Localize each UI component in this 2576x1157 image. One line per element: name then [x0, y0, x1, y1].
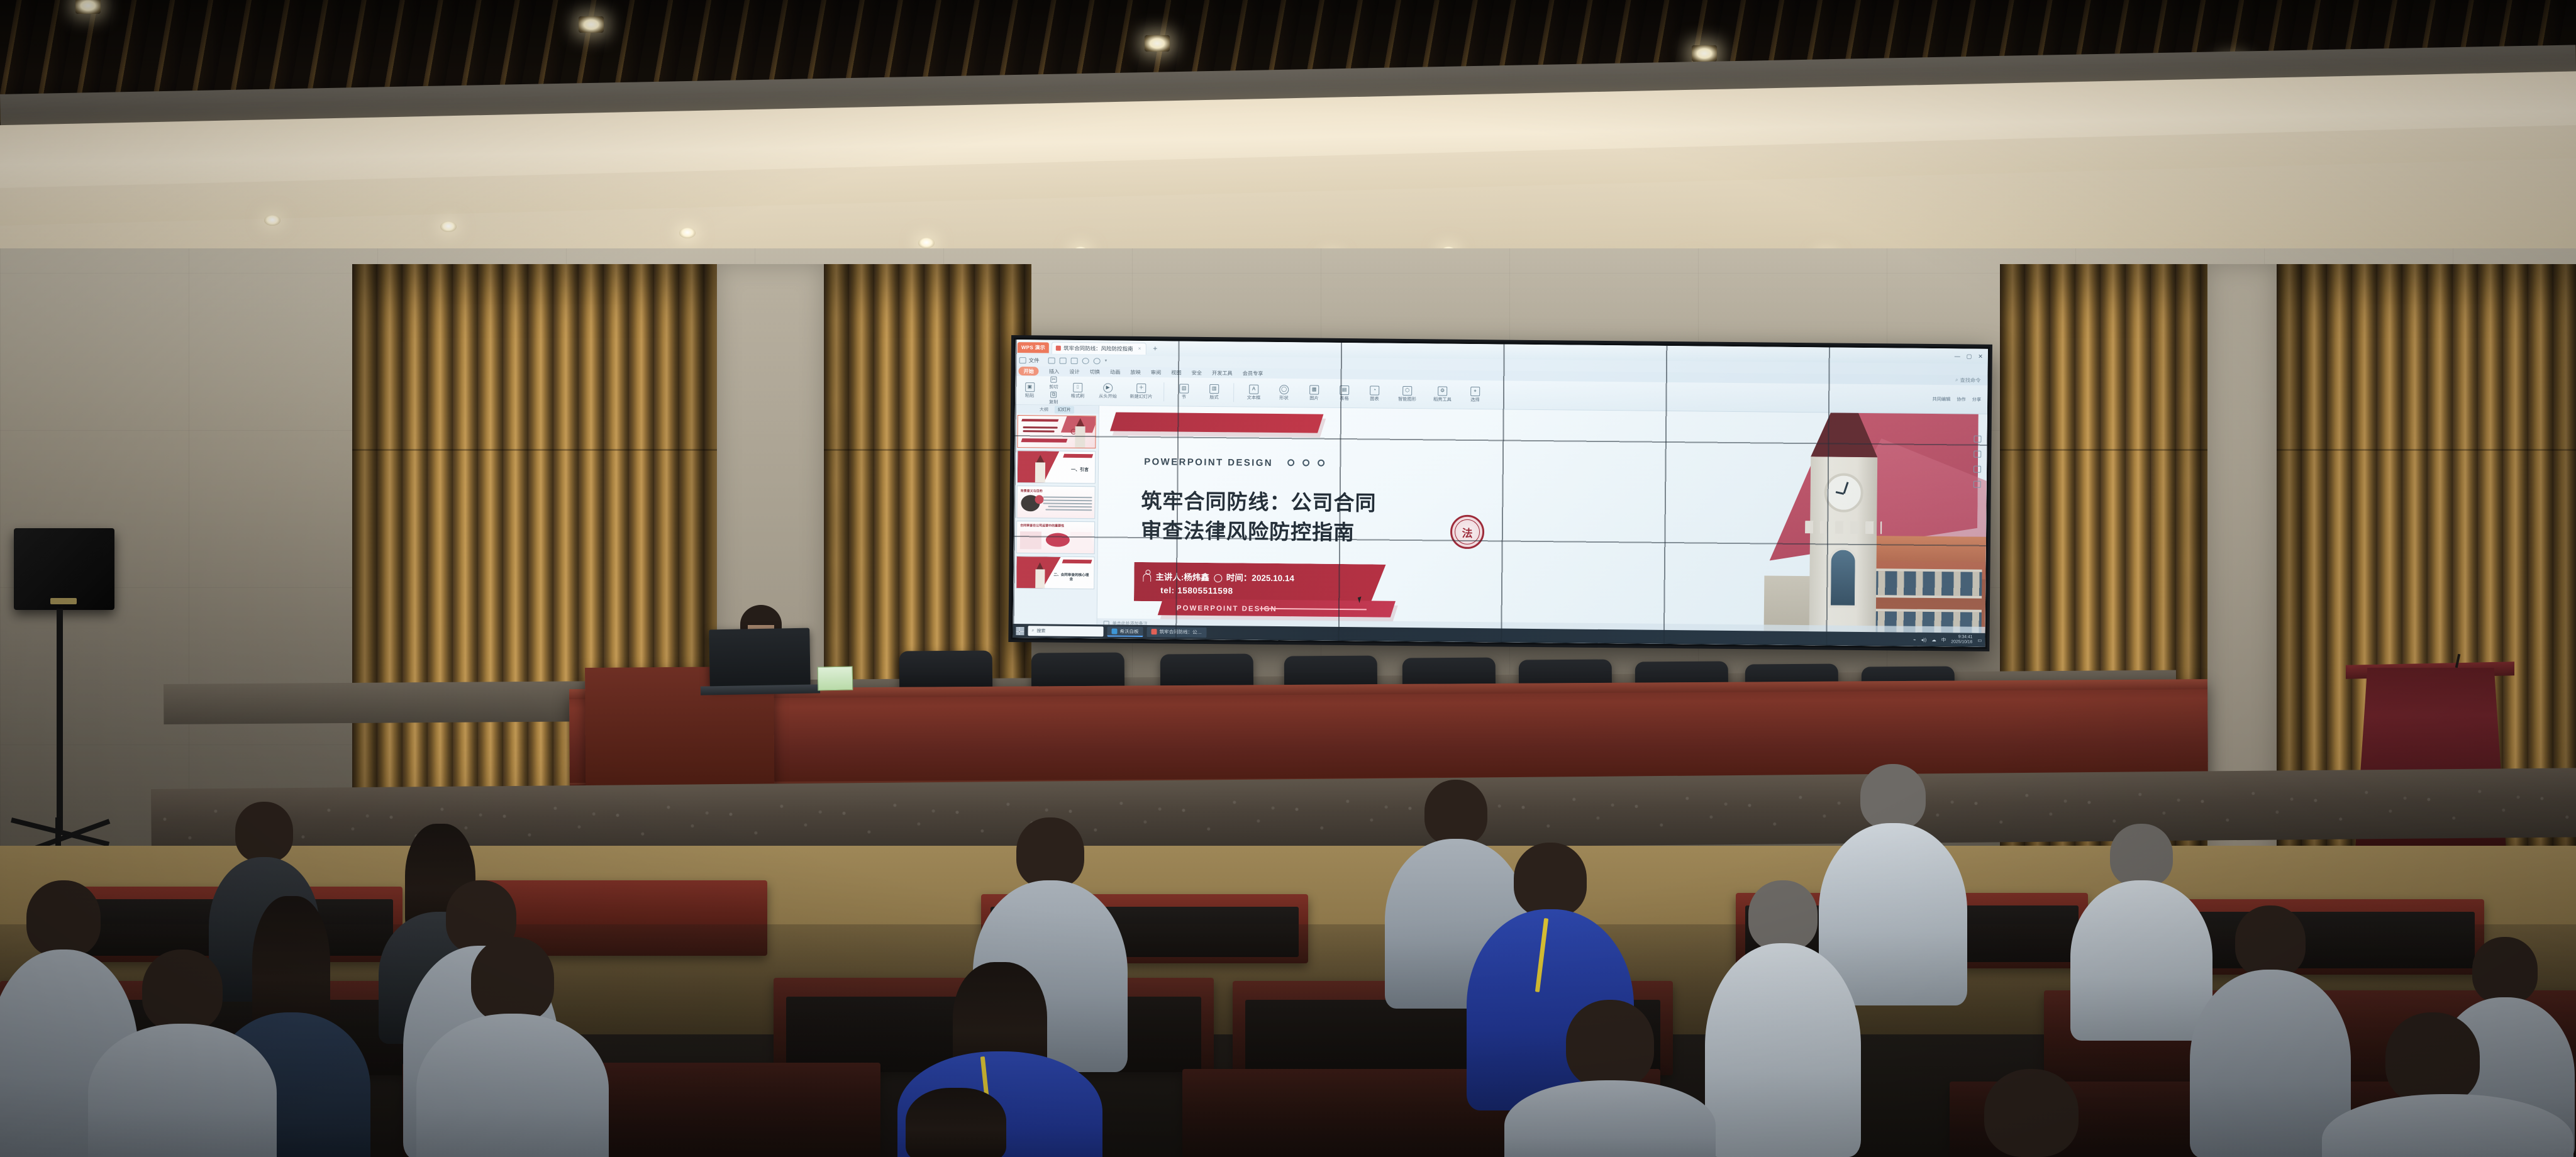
collaborate-button[interactable]: 协作	[1957, 396, 1965, 402]
tab-insert[interactable]: 插入	[1049, 368, 1060, 375]
slide-thumbnail-pane[interactable]: 大纲 幻灯片 1	[1013, 405, 1099, 638]
tab-start[interactable]: 开始	[1018, 367, 1039, 375]
pa-speaker	[14, 528, 114, 610]
ceiling-light	[75, 0, 101, 14]
search-icon: ⌕	[1955, 377, 1958, 383]
slide-thumbnail-5[interactable]: 5 二、合同审查的核心理念	[1016, 556, 1094, 589]
slide-thumbnail-1[interactable]: 1	[1017, 415, 1096, 448]
circle-icon	[1302, 459, 1309, 466]
tab-member[interactable]: 会员专享	[1243, 369, 1263, 377]
person-head	[471, 937, 554, 1022]
file-menu-button[interactable]: 文件	[1019, 357, 1040, 364]
person-torso	[416, 1014, 609, 1157]
maximize-icon[interactable]: ▢	[1967, 353, 1972, 360]
section-button[interactable]: ▤ 节	[1173, 384, 1194, 399]
new-slide-button[interactable]: ＋ 新建幻灯片	[1127, 384, 1155, 399]
person-head	[1860, 764, 1926, 829]
audience-person	[88, 949, 277, 1157]
tab-security[interactable]: 安全	[1192, 369, 1202, 377]
wps-app-badge: WPS 演示	[1018, 342, 1049, 353]
person-head	[1514, 843, 1587, 917]
scissors-icon: ✂	[1051, 377, 1057, 383]
document-tab-label: 筑牢合同防线：风险防控指南	[1063, 344, 1133, 352]
paste-button[interactable]: ▣ 粘贴	[1019, 382, 1040, 398]
slide-kicker-text: POWERPOINT DESIGN	[1144, 457, 1273, 468]
thumbnail-list[interactable]: 1 2	[1013, 413, 1099, 631]
slide-speaker-info: 主讲人:杨炜鑫 时间：2025.10.14 tel: 15805511598	[1143, 571, 1388, 600]
taskbar-app-seewo[interactable]: 希沃白板	[1107, 626, 1143, 637]
resources-icon	[1974, 466, 1981, 473]
chart-icon: ◔	[1370, 385, 1379, 395]
circle-icon	[1287, 459, 1294, 466]
person-head	[1424, 780, 1487, 845]
new-icon[interactable]	[1048, 358, 1055, 364]
select-label: 选择	[1470, 397, 1479, 402]
close-tab-icon[interactable]: ×	[1138, 346, 1141, 352]
shape-button[interactable]: ◯ 形状	[1273, 385, 1294, 401]
ribbon-search[interactable]: ⌕ 查找命令	[1955, 376, 1984, 384]
thumb-art-oval	[1046, 533, 1070, 547]
ceiling-light	[579, 16, 604, 33]
thumb-art-tower	[1035, 462, 1045, 482]
paste-label: 粘贴	[1025, 393, 1034, 398]
format-painter-button[interactable]: ⌷ 格式刷	[1067, 383, 1088, 399]
windows-start-icon[interactable]	[1016, 627, 1024, 635]
table-button[interactable]: ▤ 表格	[1333, 385, 1355, 401]
tab-animation[interactable]: 动画	[1110, 368, 1121, 375]
ribbon-divider	[1163, 382, 1164, 401]
slide-title-line-2: 审查法律风险防控指南	[1141, 516, 1436, 548]
thumb-art-bar	[1021, 438, 1067, 443]
chart-button[interactable]: ◔ 图表	[1363, 385, 1385, 401]
tray-clock[interactable]: 9:34:41 2025/10/16	[1951, 635, 1972, 645]
taskbar-search-box[interactable]: ⌕ 搜索	[1028, 626, 1103, 636]
smartart-icon: ⬡	[1402, 386, 1412, 396]
file-menu-label: 文件	[1029, 357, 1040, 364]
coedit-button[interactable]: 共同编辑	[1933, 396, 1951, 402]
person-head	[1016, 817, 1084, 888]
seewo-icon	[1111, 628, 1117, 634]
notification-icon[interactable]: ▭	[1977, 637, 1982, 643]
thumb-slide-title: 合同审查在公司运营中的重要性	[1020, 523, 1064, 528]
clock-icon	[1214, 574, 1222, 582]
copy-icon: ⧉	[1050, 392, 1057, 398]
table-label: 表格	[1340, 396, 1348, 401]
file-icon	[1019, 357, 1026, 363]
minimize-icon[interactable]: —	[1955, 353, 1960, 360]
building-roof	[1863, 536, 1986, 562]
select-button[interactable]: ⌖ 选择	[1464, 387, 1485, 402]
person-head	[2472, 937, 2538, 1004]
section-label: 节	[1182, 395, 1186, 400]
layout-icon: ▥	[1209, 384, 1219, 394]
person-head	[1566, 1000, 1654, 1088]
thumb-art-dot	[1035, 495, 1043, 504]
screen-surface: WPS 演示 筑牢合同防线：风险防控指南 × + — ▢ ✕	[1013, 340, 1987, 647]
person-torso	[1504, 1080, 1716, 1157]
tower-spire	[1811, 406, 1878, 457]
quick-access-icons[interactable]: ▾	[1048, 358, 1108, 365]
date-label: 时间：2025.10.14	[1226, 572, 1294, 585]
speaker-name-label: 主讲人:杨炜鑫	[1155, 571, 1209, 585]
recessed-downlight	[679, 228, 696, 238]
person-torso	[2322, 1094, 2573, 1157]
copy-label: 复制	[1049, 400, 1058, 405]
close-icon[interactable]: ✕	[1978, 353, 1983, 360]
thumb-art-bar	[1062, 560, 1092, 563]
redo-icon[interactable]	[1094, 358, 1101, 364]
document-tab[interactable]: 筑牢合同防线：风险防控指南 ×	[1052, 341, 1146, 354]
person-torso	[1705, 943, 1861, 1157]
recessed-downlight	[440, 221, 457, 232]
thumb-art-bar	[1021, 419, 1058, 422]
thumb-art-line	[1045, 509, 1092, 510]
feedback-icon	[1974, 481, 1981, 488]
person-head	[26, 880, 101, 957]
person-long-hair	[906, 1088, 1006, 1157]
audience-person	[1704, 880, 1862, 1157]
open-icon[interactable]	[1060, 358, 1067, 364]
picture-icon: ▦	[1309, 385, 1319, 395]
circle-icon	[1318, 460, 1324, 467]
ribbon-divider	[1233, 383, 1234, 402]
person-head	[235, 802, 293, 862]
tab-slideshow[interactable]: 放映	[1130, 368, 1141, 376]
ceiling-light	[1145, 35, 1170, 52]
thumb-art-line	[1043, 496, 1092, 497]
ceiling-light	[1692, 45, 1717, 62]
slide-thumbnail-4[interactable]: 4 合同审查在公司运营中的重要性	[1016, 521, 1095, 554]
person-head	[1748, 880, 1818, 951]
speaker-brand-plate	[50, 598, 77, 604]
thumb-art-tower	[1035, 569, 1045, 588]
cloud-icon[interactable]: ☁	[1931, 637, 1936, 643]
thumb-art-line	[1048, 506, 1092, 507]
audience-person	[1503, 1000, 1717, 1157]
recessed-downlight	[264, 215, 280, 226]
thumb-art-bar	[1063, 454, 1093, 458]
chevron-down-icon[interactable]: ▾	[1105, 358, 1108, 364]
slide-1-title-slide[interactable]: POWERPOINT DESIGN 筑牢合同防线：公司合同 审查法律风险防控指南	[1097, 406, 1987, 647]
led-video-wall: WPS 演示 筑牢合同防线：风险防控指南 × + — ▢ ✕	[1011, 338, 1990, 649]
seal-character: 法	[1462, 524, 1472, 540]
feedback-button[interactable]	[1974, 481, 1981, 488]
person-head	[1984, 1069, 2079, 1157]
thumb-slide-title: 一、引言	[1071, 467, 1089, 473]
taskbar-app-label: 希沃白板	[1119, 628, 1138, 634]
tab-transition[interactable]: 切换	[1090, 368, 1101, 375]
tab-outline[interactable]: 大纲	[1040, 406, 1048, 412]
ime-icon[interactable]: 中	[1941, 636, 1946, 643]
smartart-label: 智能图形	[1398, 397, 1416, 402]
tools-button[interactable]: ⚙ 稻壳工具	[1429, 386, 1455, 402]
cut-button[interactable]: ✂ 剪切	[1049, 377, 1058, 390]
new-tab-button[interactable]: +	[1146, 344, 1163, 353]
tools-label: 稻壳工具	[1433, 397, 1452, 402]
design-idea-button[interactable]	[1974, 436, 1981, 443]
save-icon[interactable]	[1071, 358, 1078, 364]
slide-title-line-1: 筑牢合同防线：公司合同	[1141, 487, 1436, 519]
textbox-label: 文本框	[1247, 396, 1261, 401]
telephone-label: tel: 15805511598	[1143, 584, 1388, 600]
person-head	[2110, 824, 2173, 887]
copy-button[interactable]: ⧉ 复制	[1049, 392, 1058, 405]
clock-face-icon	[1824, 473, 1863, 512]
thumb-slide-title: 背景意义与目的	[1021, 489, 1043, 493]
ai-icon	[1974, 451, 1981, 458]
tower-crenellation	[1805, 521, 1882, 534]
start-label: 从头开始	[1099, 394, 1117, 399]
tower-arched-window	[1828, 547, 1858, 607]
thumb-art-box	[1020, 531, 1041, 549]
clock-date: 2025/10/16	[1951, 639, 1972, 645]
taskbar-app-wps[interactable]: 筑牢合同防线：公…	[1146, 627, 1206, 638]
cut-label: 剪切	[1049, 385, 1058, 390]
paste-icon: ▣	[1025, 382, 1035, 392]
thumb-art-tower	[1075, 426, 1085, 448]
speaker-stand-pole	[57, 609, 63, 830]
tab-slides[interactable]: 幻灯片	[1055, 406, 1074, 413]
ribbon-search-label: 查找命令	[1960, 376, 1981, 384]
picture-label: 图片	[1309, 396, 1318, 401]
audience-person	[862, 1088, 1050, 1157]
audience-person	[2327, 1012, 2576, 1157]
thumb-art-box	[1070, 532, 1092, 550]
design-icon	[1974, 436, 1981, 443]
thumb-art-line	[1043, 499, 1092, 501]
new-slide-label: 新建幻灯片	[1130, 394, 1152, 399]
undo-icon[interactable]	[1082, 358, 1089, 364]
taskbar-app-label: 筑牢合同防线：公…	[1159, 628, 1202, 636]
wps-presentation-window: WPS 演示 筑牢合同防线：风险防控指南 × + — ▢ ✕	[1013, 340, 1987, 647]
tab-view[interactable]: 视图	[1171, 368, 1182, 376]
slide-top-accent-bar	[1110, 412, 1323, 433]
tab-review[interactable]: 审阅	[1151, 368, 1162, 376]
person-head	[2235, 905, 2306, 977]
start-from-beginning-button[interactable]: ▶ 从头开始	[1097, 383, 1118, 399]
volume-icon[interactable]: ◂))	[1921, 636, 1927, 642]
person-head	[142, 949, 223, 1031]
table-icon: ▤	[1340, 385, 1349, 395]
wps-icon	[1151, 629, 1157, 634]
smartart-button[interactable]: ⬡ 智能图形	[1394, 386, 1420, 402]
system-tray[interactable]: ⌁ ◂)) ☁ 中 9:34:41 2025/10/16 ▭	[1913, 634, 1982, 645]
format-painter-icon: ⌷	[1073, 383, 1082, 392]
editor-workspace: 大纲 幻灯片 1	[1013, 405, 1987, 647]
thumb-art-title	[1023, 426, 1058, 429]
chart-label: 图表	[1370, 396, 1379, 401]
picture-button[interactable]: ▦ 图片	[1303, 385, 1324, 401]
format-painter-label: 格式刷	[1071, 394, 1085, 399]
slide-title: 筑牢合同防线：公司合同 审查法律风险防控指南	[1141, 487, 1437, 548]
thumb-art-title	[1023, 430, 1055, 432]
conference-hall-photo: WPS 演示 筑牢合同防线：风险防控指南 × + — ▢ ✕	[0, 0, 2576, 1157]
textbox-icon: A	[1249, 385, 1258, 394]
slide-thumbnail-3[interactable]: 3 背景意义与目的	[1016, 485, 1095, 519]
recessed-downlight	[918, 238, 935, 248]
thumb-slide-title: 二、合同审查的核心理念	[1052, 573, 1090, 583]
network-icon[interactable]: ⌁	[1913, 636, 1916, 642]
thumb-art-line	[1043, 502, 1092, 504]
slide-thumbnail-2[interactable]: 2 一、引言	[1017, 450, 1096, 484]
shape-icon: ◯	[1279, 385, 1289, 394]
layout-button[interactable]: ▥ 版式	[1203, 384, 1224, 400]
window-controls[interactable]: — ▢ ✕	[1955, 353, 1988, 360]
tab-developer[interactable]: 开发工具	[1212, 369, 1233, 377]
building-window-row	[1866, 568, 1982, 599]
person-torso	[88, 1024, 277, 1157]
shape-label: 形状	[1279, 396, 1288, 401]
select-icon: ⌖	[1470, 387, 1480, 396]
search-icon: ⌕	[1031, 628, 1034, 633]
audience-person	[415, 937, 610, 1157]
taskbar-search-placeholder: 搜索	[1036, 628, 1045, 634]
textbox-button[interactable]: A 文本框	[1243, 385, 1264, 401]
play-icon: ▶	[1103, 383, 1113, 392]
titlebar-spacer	[1163, 348, 1954, 356]
audience-person	[1924, 1069, 2138, 1157]
tools-icon: ⚙	[1438, 387, 1447, 396]
organization-seal-icon: 法	[1450, 515, 1485, 550]
slide-canvas-area[interactable]: POWERPOINT DESIGN 筑牢合同防线：公司合同 审查法律风险防控指南	[1097, 406, 1987, 647]
wps-file-icon	[1056, 345, 1061, 350]
person-head	[2385, 1012, 2480, 1104]
share-button[interactable]: 分享	[1972, 396, 1981, 402]
slide-kicker-dots	[1287, 459, 1324, 467]
canvas-side-toolbar[interactable]	[1969, 436, 1986, 488]
thumbnail-view-tabs[interactable]: 大纲 幻灯片	[1015, 405, 1099, 414]
section-icon: ▤	[1179, 384, 1189, 394]
presenter-laptop	[709, 628, 811, 688]
layout-label: 版式	[1209, 395, 1218, 400]
new-slide-icon: ＋	[1136, 384, 1146, 393]
collaboration-group[interactable]: 共同编辑 协作 分享	[1933, 396, 1984, 403]
desk-nameplate	[818, 667, 853, 691]
person-icon	[1143, 573, 1151, 582]
ai-assistant-button[interactable]	[1974, 451, 1981, 458]
resources-button[interactable]	[1974, 466, 1981, 473]
tab-design[interactable]: 设计	[1069, 368, 1080, 375]
